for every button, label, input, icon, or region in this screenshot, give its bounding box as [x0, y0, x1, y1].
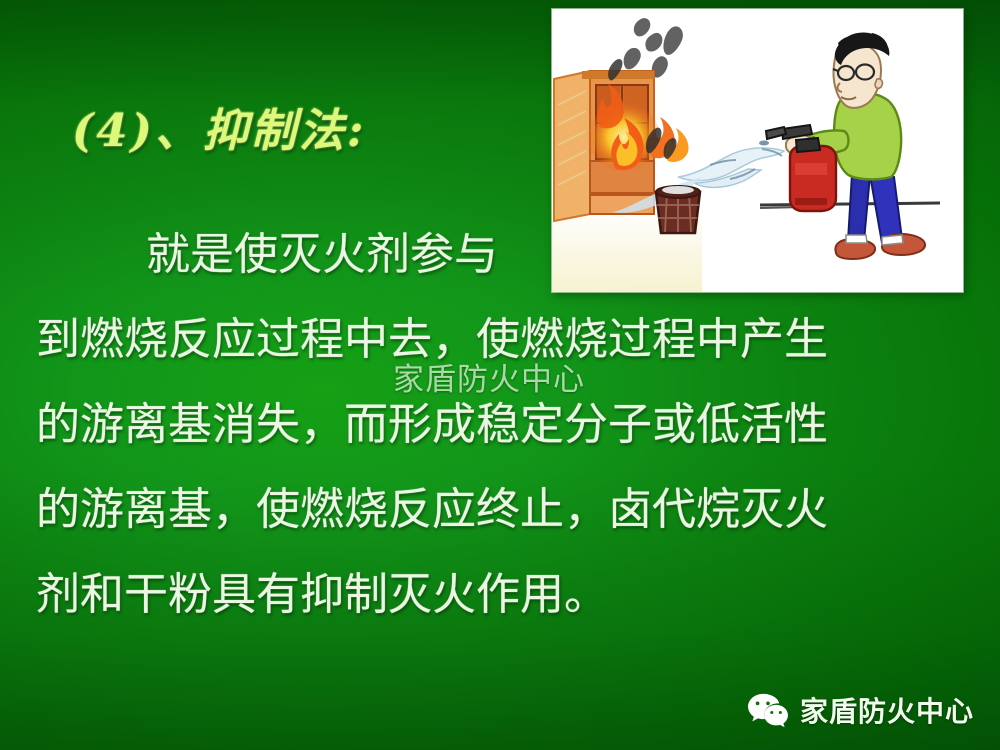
brand-label: 家盾防火中心 — [800, 690, 974, 730]
body-line-5: 剂和干粉具有抑制灭火作用。 — [36, 552, 966, 637]
brand-footer: 家盾防火中心 — [747, 690, 974, 730]
page-title: (4)、抑制法: — [72, 94, 367, 159]
extinguisher-neck — [796, 138, 820, 152]
fire-extinguisher-illustration — [552, 9, 963, 292]
body-line-3: 的游离基消失，而形成稳定分子或低活性 — [36, 382, 966, 467]
slide-canvas: (4)、抑制法: 就是使灭火剂参与 到燃烧反应过程中去，使燃烧过程中产生 的游离… — [0, 0, 1000, 750]
wastebasket — [656, 186, 700, 233]
body-line-4: 的游离基，使燃烧反应终止，卤代烷灭火 — [36, 467, 966, 552]
wechat-icon — [747, 691, 789, 729]
body-line-2: 到燃烧反应过程中去，使燃烧过程中产生 — [36, 297, 966, 382]
illustration-svg — [552, 9, 963, 292]
